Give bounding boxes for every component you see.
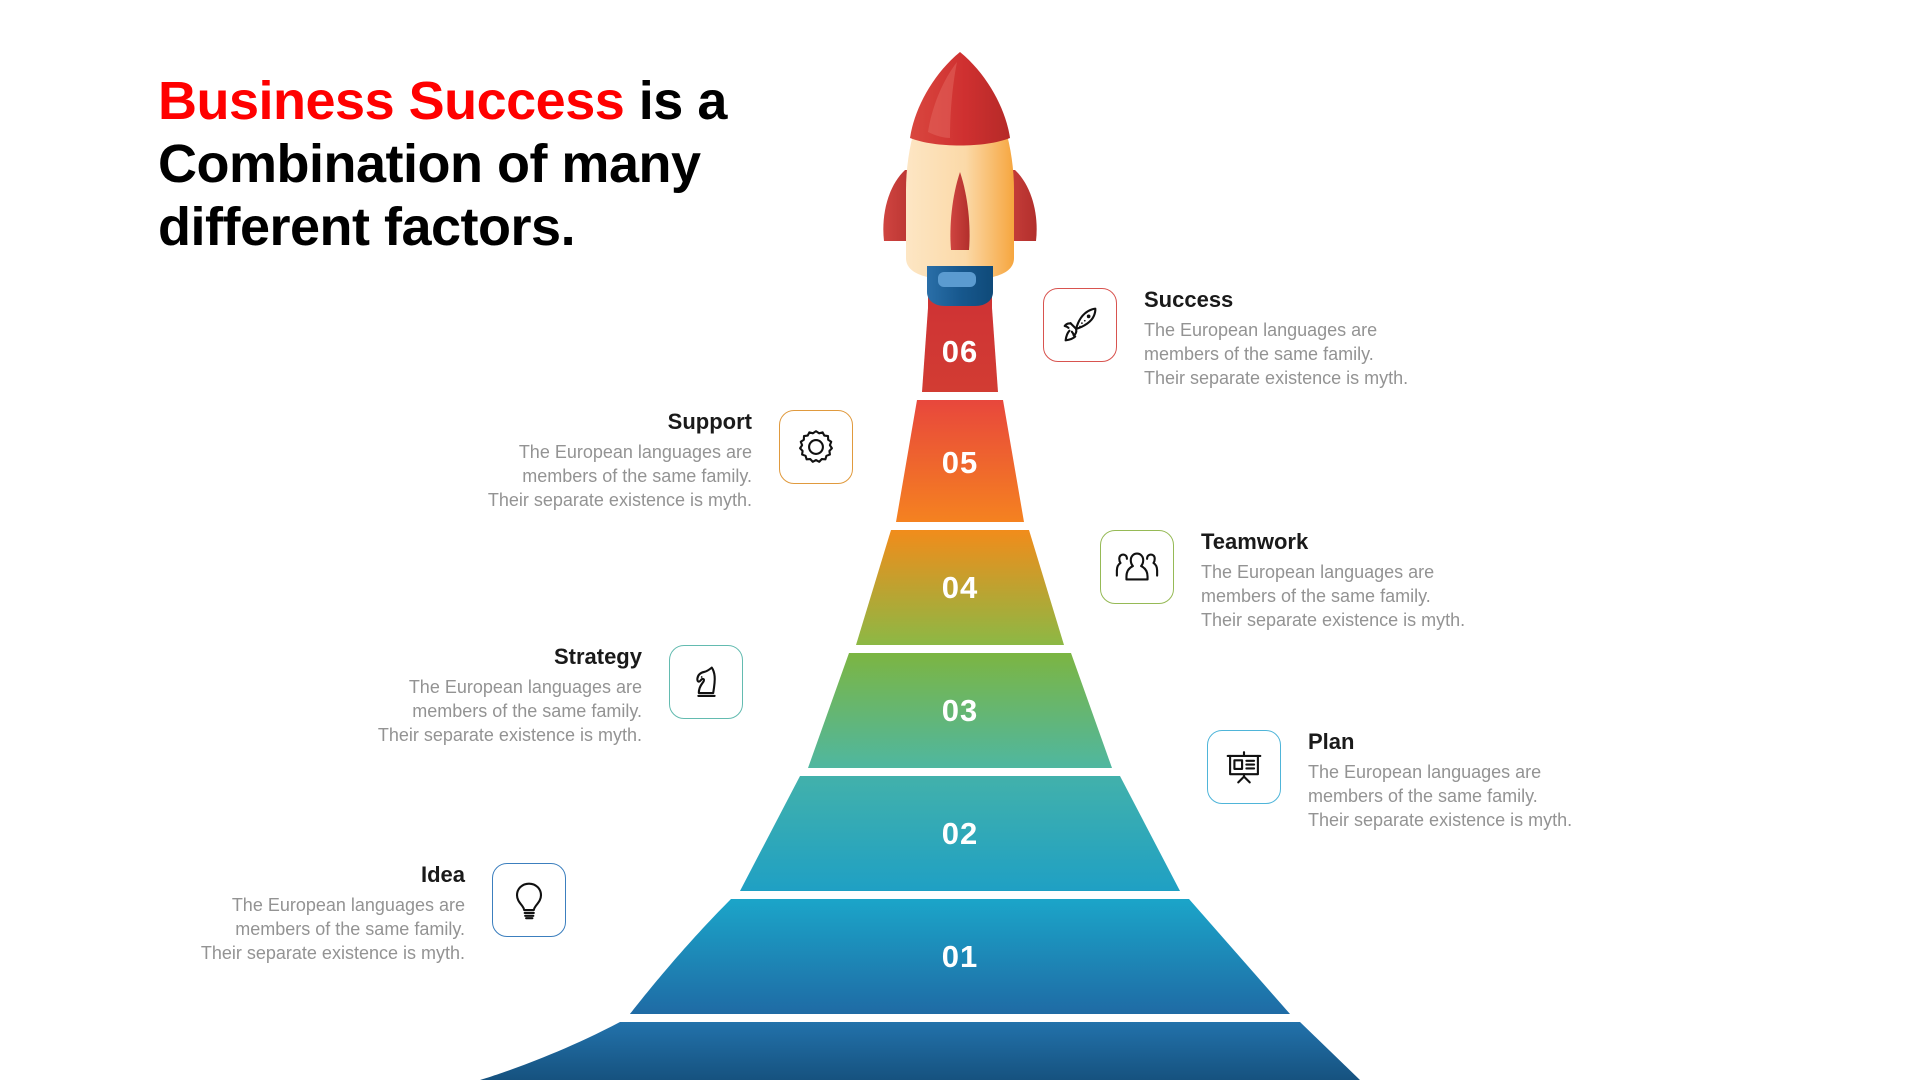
iconbox-strategy[interactable] [669,645,743,719]
item-idea[interactable]: Idea The European languages are members … [145,863,566,965]
item-support[interactable]: Support The European languages are membe… [412,410,853,512]
pyramid-band-06 [922,308,998,392]
item-plan[interactable]: Plan The European languages are members … [1207,730,1572,832]
item-title-teamwork: Teamwork [1201,530,1465,554]
iconbox-teamwork[interactable] [1100,530,1174,604]
pyramid-band-01 [630,899,1290,1014]
iconbox-idea[interactable] [492,863,566,937]
item-strategy[interactable]: Strategy The European languages are memb… [322,645,743,747]
pyramid-band-02 [740,776,1180,891]
item-desc-support: The European languages are members of th… [412,441,752,512]
item-teamwork[interactable]: Teamwork The European languages are memb… [1100,530,1465,632]
text-success: Success The European languages are membe… [1144,288,1408,390]
rocket-illustration [883,52,1036,312]
rocket-nose-cone [910,52,1010,146]
item-title-plan: Plan [1308,730,1572,754]
item-title-strategy: Strategy [322,645,642,669]
item-title-support: Support [412,410,752,434]
iconbox-plan[interactable] [1207,730,1281,804]
item-success[interactable]: Success The European languages are membe… [1043,288,1408,390]
item-desc-teamwork: The European languages are members of th… [1201,561,1465,632]
item-desc-idea: The European languages are members of th… [145,894,465,965]
pyramid-band-04 [856,530,1064,645]
item-desc-success: The European languages are members of th… [1144,319,1408,390]
lightbulb-icon [506,877,552,923]
text-strategy: Strategy The European languages are memb… [322,645,642,747]
pyramid-band-05 [896,400,1024,522]
iconbox-success[interactable] [1043,288,1117,362]
infographic-slide: Business Success is a Combination of man… [0,0,1920,1080]
item-desc-plan: The European languages are members of th… [1308,761,1572,832]
chess-knight-icon [683,659,729,705]
item-title-idea: Idea [145,863,465,887]
people-icon [1114,544,1160,590]
item-desc-strategy: The European languages are members of th… [322,676,642,747]
text-plan: Plan The European languages are members … [1308,730,1572,832]
presentation-board-icon [1221,744,1267,790]
iconbox-support[interactable] [779,410,853,484]
text-support: Support The European languages are membe… [412,410,752,512]
pyramid-base [480,1022,1360,1080]
pyramid-band-03 [808,653,1112,768]
text-teamwork: Teamwork The European languages are memb… [1201,530,1465,632]
rocket-nozzle-highlight [938,272,976,287]
gear-icon [793,424,839,470]
item-title-success: Success [1144,288,1408,312]
rocket-icon [1057,302,1103,348]
text-idea: Idea The European languages are members … [145,863,465,965]
